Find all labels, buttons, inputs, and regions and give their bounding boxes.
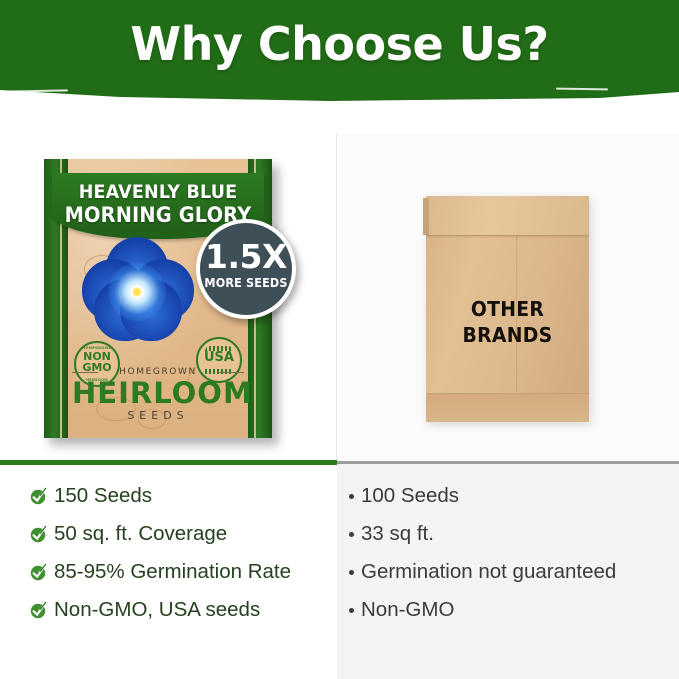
- envelope-flap-edge: [423, 198, 429, 235]
- our-features-list: 150 Seeds 50 sq. ft. Coverage 85-95% Ger…: [30, 482, 330, 634]
- packet-footer: HOMEGROWN HEIRLOOM SEEDS: [72, 367, 244, 422]
- competitor-features-divider: [337, 461, 679, 464]
- check-icon: [30, 563, 47, 581]
- envelope-bottom-band: [426, 393, 589, 422]
- list-item: 50 sq. ft. Coverage: [30, 520, 330, 547]
- envelope-flap: [426, 196, 589, 236]
- list-item: 33 sq ft.: [348, 520, 668, 547]
- check-icon: [30, 525, 47, 543]
- packet-seeds-label: SEEDS: [72, 409, 244, 422]
- packet-heirloom-label: HEIRLOOM: [72, 377, 244, 409]
- page-title: Why Choose Us?: [0, 14, 679, 74]
- packet-homegrown-label: HOMEGROWN: [72, 367, 244, 377]
- envelope-label-line-1: OTHER: [431, 296, 584, 322]
- our-features-divider: [0, 460, 337, 465]
- feature-text: 100 Seeds: [361, 482, 459, 509]
- list-item: Germination not guaranteed: [348, 558, 668, 585]
- bullet-dot-icon: [348, 596, 361, 618]
- list-item: 100 Seeds: [348, 482, 668, 509]
- flower-center: [108, 263, 166, 321]
- check-icon: [30, 601, 47, 619]
- feature-text: 150 Seeds: [54, 482, 152, 509]
- feature-text: 50 sq. ft. Coverage: [54, 520, 227, 547]
- list-item: 85-95% Germination Rate: [30, 558, 330, 585]
- packet-title: HEAVENLY BLUE MORNING GLORY: [60, 181, 255, 227]
- list-item: 150 Seeds: [30, 482, 330, 509]
- panel-vertical-separator: [336, 134, 337, 462]
- bullet-dot-icon: [348, 520, 361, 542]
- feature-text: Non-GMO, USA seeds: [54, 596, 260, 623]
- competitor-features-list: 100 Seeds 33 sq ft. Germination not guar…: [348, 482, 668, 634]
- envelope-label: OTHER BRANDS: [431, 296, 584, 348]
- morning-glory-flower-icon: [82, 237, 194, 341]
- list-item: Non-GMO, USA seeds: [30, 596, 330, 623]
- feature-text: Germination not guaranteed: [361, 558, 616, 585]
- kraft-envelope: OTHER BRANDS: [426, 196, 589, 422]
- usa-seal-text: USA: [198, 352, 240, 363]
- more-seeds-badge-value: 1.5X: [200, 240, 292, 274]
- feature-text: 33 sq ft.: [361, 520, 434, 547]
- envelope-label-line-2: BRANDS: [431, 322, 584, 348]
- check-icon: [30, 487, 47, 505]
- more-seeds-badge-label: MORE SEEDS: [203, 276, 289, 290]
- feature-text: Non-GMO: [361, 596, 454, 623]
- feature-text: 85-95% Germination Rate: [54, 558, 291, 585]
- packet-title-line-1: HEAVENLY BLUE: [60, 181, 255, 204]
- bullet-dot-icon: [348, 482, 361, 504]
- competitor-product-image: OTHER BRANDS: [426, 196, 589, 422]
- bullet-dot-icon: [348, 558, 361, 580]
- more-seeds-badge: 1.5X MORE SEEDS: [196, 219, 296, 319]
- list-item: Non-GMO: [348, 596, 668, 623]
